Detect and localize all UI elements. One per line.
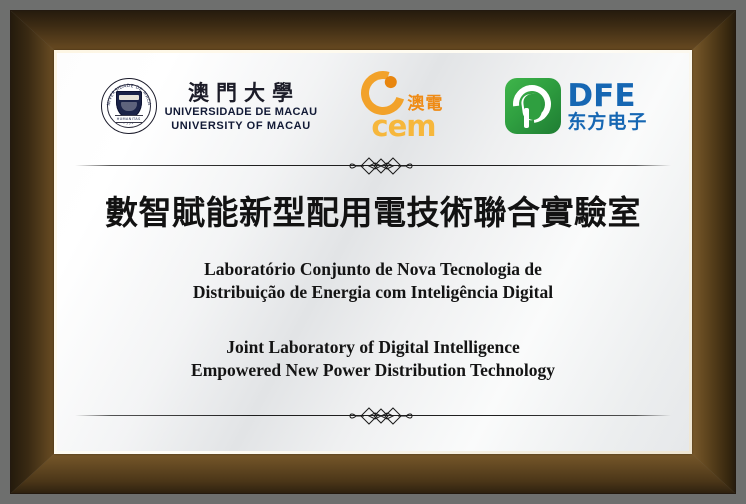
dfe-wordmark: DFE 东方电子 [567, 80, 647, 133]
cem-wordmark: cem [371, 111, 435, 141]
um-wordmark: 澳門大學 UNIVERSIDADE DE MACAU UNIVERSITY OF… [165, 80, 318, 133]
divider-top-ornament-icon [344, 155, 418, 177]
cem-logo: 澳電 cem [355, 69, 459, 143]
subtitle-english-line2: Empowered New Power Distribution Technol… [57, 359, 689, 382]
subtitle-english-line1: Joint Laboratory of Digital Intelligence [57, 336, 689, 359]
frame-left-stile [10, 10, 56, 494]
subtitle-portuguese-line1: Laboratório Conjunto de Nova Tecnologia … [57, 258, 689, 281]
um-english-name: UNIVERSITY OF MACAU [165, 119, 318, 133]
divider-bottom-ornament-icon [344, 405, 418, 427]
frame-right-stile [690, 10, 736, 494]
dfe-logo: DFE 东方电子 [505, 75, 671, 137]
title-chinese: 數智賦能新型配用電技術聯合實驗室 [57, 193, 689, 233]
dfe-chinese-name: 东方电子 [567, 112, 647, 133]
dfe-stem-shape [524, 108, 529, 128]
dfe-english-name: DFE [567, 80, 647, 112]
frame-top-rail [10, 10, 736, 52]
um-crest-scroll: HUMANITAS [115, 115, 143, 123]
subtitle-portuguese: Laboratório Conjunto de Nova Tecnologia … [57, 258, 689, 304]
subtitle-portuguese-line2: Distribuição de Energia com Inteligência… [57, 281, 689, 304]
dfe-leaf-icon [505, 78, 561, 134]
logo-row: UNIVERSIDADE DE MACAU 澳門大學 HUMANITAS 澳門大… [57, 60, 689, 152]
divider-bottom [75, 405, 671, 427]
subtitle-english: Joint Laboratory of Digital Intelligence… [57, 336, 689, 382]
um-portuguese-name: UNIVERSIDADE DE MACAU [165, 105, 318, 119]
um-seal-icon: UNIVERSIDADE DE MACAU 澳門大學 HUMANITAS [101, 78, 157, 134]
divider-top [75, 155, 671, 177]
plaque-face: UNIVERSIDADE DE MACAU 澳門大學 HUMANITAS 澳門大… [57, 53, 689, 451]
university-of-macau-logo: UNIVERSIDADE DE MACAU 澳門大學 HUMANITAS 澳門大… [101, 78, 318, 134]
um-chinese-name: 澳門大學 [171, 80, 318, 105]
frame-bottom-rail [10, 452, 736, 494]
plaque-photo: UNIVERSIDADE DE MACAU 澳門大學 HUMANITAS 澳門大… [0, 0, 746, 504]
